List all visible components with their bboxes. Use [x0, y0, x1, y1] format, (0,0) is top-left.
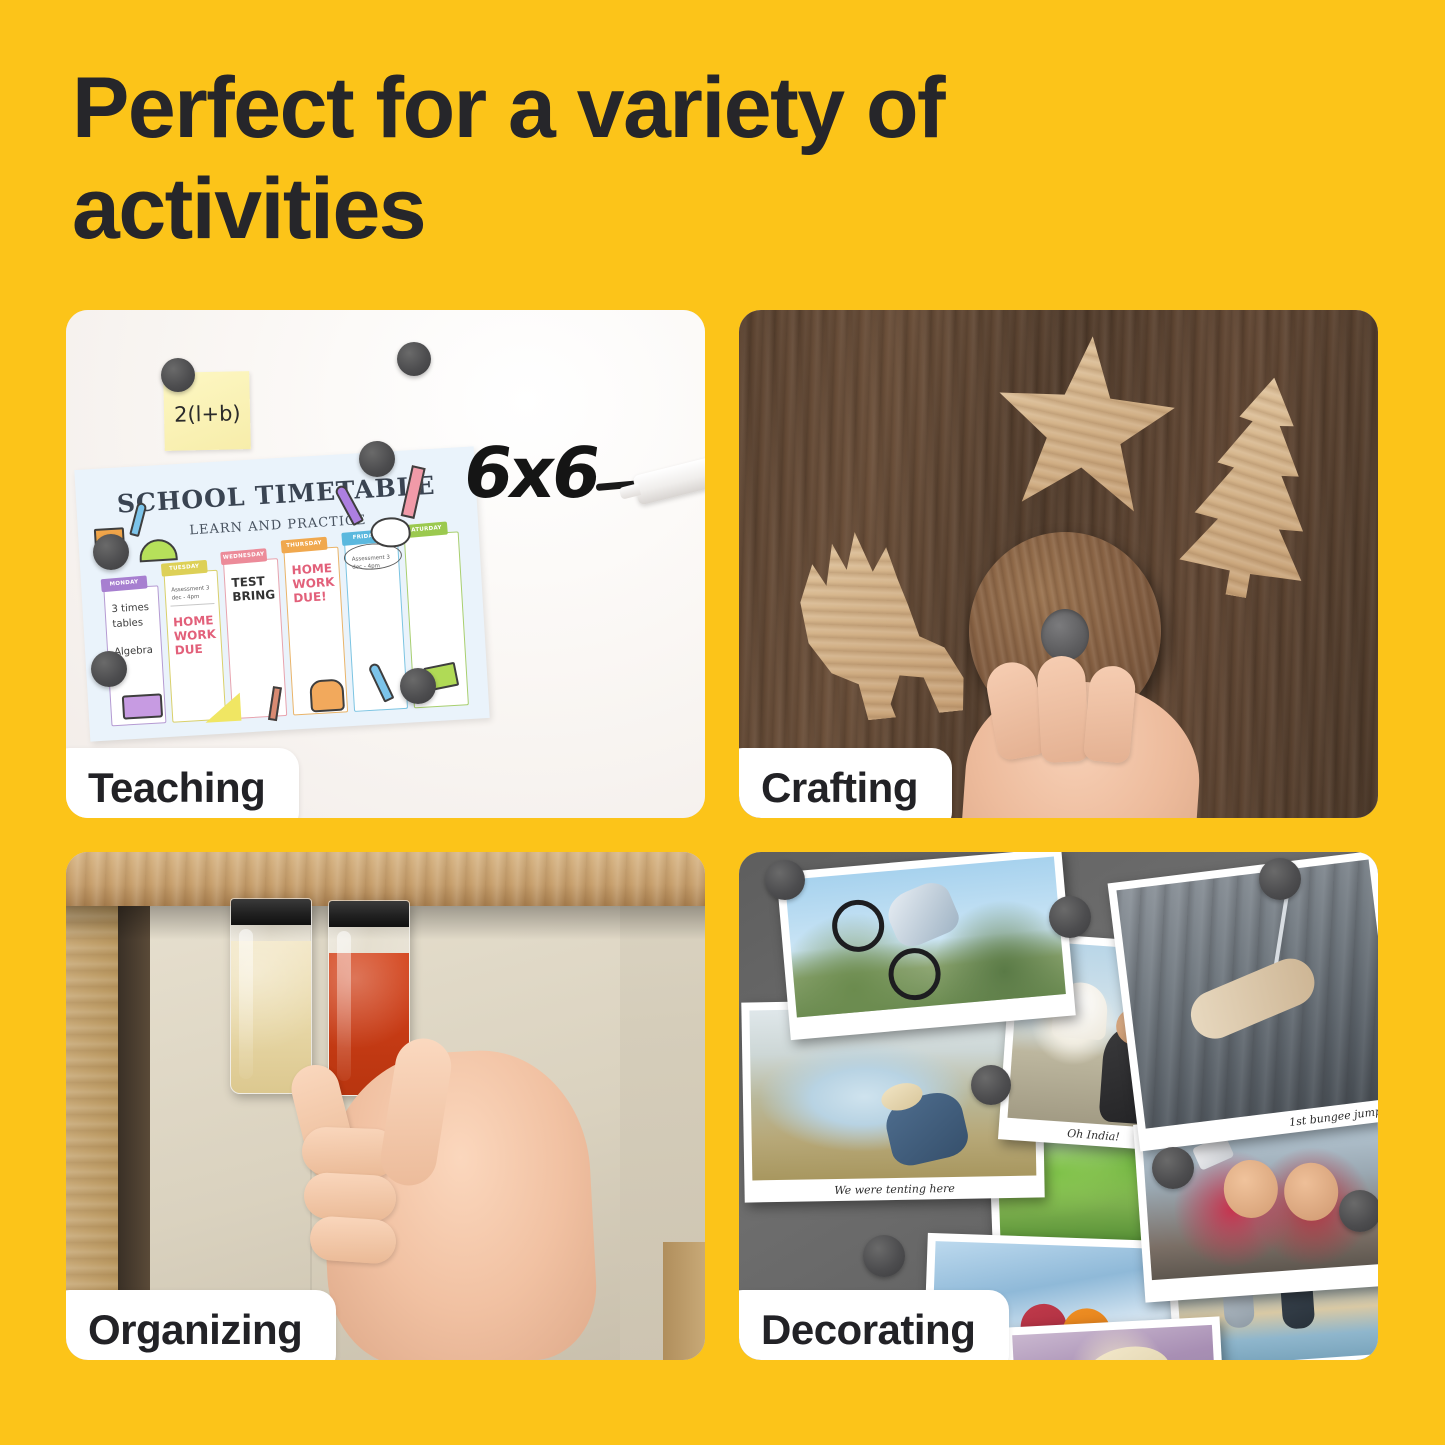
cabinet-side-right [663, 1242, 705, 1360]
day-tag-tuesday: TUESDAY [160, 560, 207, 577]
magnet-dot [765, 860, 805, 900]
panel-organizing[interactable]: Organizing [66, 852, 705, 1360]
sticky-note-text: 2(l+b) [174, 401, 241, 426]
photo-image [1012, 1325, 1217, 1360]
magnet-dot [863, 1235, 905, 1277]
magnet-dot [161, 358, 195, 392]
page-heading: Perfect for a variety of activities [72, 58, 1312, 261]
panel-label-decorating: Decorating [739, 1290, 1009, 1360]
magnet-dot [400, 668, 436, 704]
photo-caption: We were tenting here [744, 1180, 1044, 1198]
backpack-doodle-icon [309, 679, 345, 713]
jar-lid [328, 901, 410, 927]
day-tag-thursday: THURSDAY [281, 537, 328, 554]
magnet-dot [93, 534, 129, 570]
finger [1036, 655, 1089, 763]
panel-decorating[interactable]: We were tenting here Oh India! [739, 852, 1378, 1360]
kitchen-shelf-scene [66, 852, 705, 1360]
panel-label-teaching: Teaching [66, 748, 299, 818]
entry-thursday-1: HOME WORK DUE! [289, 562, 336, 606]
panel-crafting[interactable]: Crafting [739, 310, 1378, 818]
magnet-dot [397, 342, 431, 376]
entry-tuesday-1: Assessment 3 dec - 4pm [169, 585, 215, 607]
jar-lid [230, 899, 312, 925]
finger [309, 1215, 398, 1265]
panel-label-organizing: Organizing [66, 1290, 336, 1360]
photo-subject [1183, 951, 1321, 1046]
dry-erase-marker-icon [632, 444, 705, 505]
photo-wall-scene: We were tenting here Oh India! [739, 852, 1378, 1360]
magnet-dot [1152, 1147, 1194, 1189]
photo-mountain-biker [776, 852, 1076, 1040]
wooden-shelf [66, 852, 705, 906]
jar-glass-highlight [239, 929, 253, 1079]
photo-subject [881, 876, 963, 951]
spice-jar-light [230, 898, 312, 1094]
photo-subject-head [1282, 1161, 1340, 1223]
hand-holding-marker [693, 377, 705, 650]
sun-hat [1080, 1340, 1174, 1360]
board-handwriting: 6x6 [458, 432, 603, 514]
open-book-doodle-icon [122, 693, 163, 719]
day-tag-wednesday: WEDNESDAY [221, 548, 268, 565]
finger [1083, 664, 1137, 764]
bicycle-wheel [830, 897, 886, 953]
photo-bungee-jump: 1st bungee jump :) [1108, 852, 1378, 1151]
magnet-dot [1041, 609, 1089, 661]
triangle-doodle-icon [204, 693, 242, 723]
magnet-dot [91, 651, 127, 687]
panel-label-crafting: Crafting [739, 748, 952, 818]
bicycle-wheel [886, 946, 942, 1002]
magnet-dot [1259, 858, 1301, 900]
entry-monday-1: 3 times tables [109, 601, 155, 633]
magnet-dot [971, 1065, 1011, 1105]
protractor-doodle-icon [139, 538, 178, 562]
activities-grid: 2(l+b) SCHOOL TIMETABLE LEARN AND PRACTI… [66, 310, 1378, 1385]
photo-image [1116, 859, 1378, 1128]
entry-tuesday-2: HOME WORK DUE [171, 614, 218, 658]
photo-image [785, 857, 1066, 1018]
magnet-dot [1049, 896, 1091, 938]
finger [303, 1172, 397, 1223]
day-tag-monday: MONDAY [101, 575, 148, 592]
panel-teaching[interactable]: 2(l+b) SCHOOL TIMETABLE LEARN AND PRACTI… [66, 310, 705, 818]
jar-glass-highlight [337, 931, 351, 1081]
whiteboard-scene: 2(l+b) SCHOOL TIMETABLE LEARN AND PRACTI… [66, 310, 705, 818]
magnet-dot [1339, 1190, 1378, 1232]
magnet-dot [359, 441, 395, 477]
wood-table-scene [739, 310, 1378, 818]
entry-wednesday-1: TEST BRING [229, 573, 275, 604]
photo-subject-head [1222, 1158, 1280, 1220]
